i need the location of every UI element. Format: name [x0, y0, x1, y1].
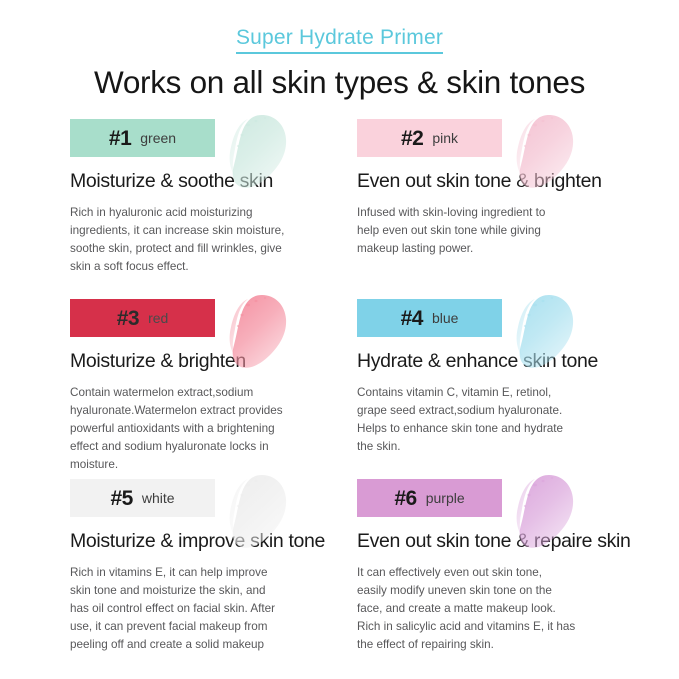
shade-description: Contains vitamin C, vitamin E, retinol,g… — [357, 384, 642, 455]
description-line: Rich in salicylic acid and vitamins E, i… — [357, 618, 642, 636]
shade-card-red: #3redMoisturize & brightenContain waterm… — [70, 299, 355, 479]
description-line: effect and sodium hyaluronate locks in — [70, 438, 355, 456]
shade-card-pink: #2pinkEven out skin tone & brightenInfus… — [357, 119, 642, 299]
description-line: use, it can prevent facial makeup from — [70, 618, 355, 636]
shade-color-name: blue — [432, 311, 458, 325]
shade-card-grid: #1greenMoisturize & soothe skinRich in h… — [0, 119, 679, 659]
description-line: Infused with skin-loving ingredient to — [357, 204, 642, 222]
description-line: the skin. — [357, 438, 642, 456]
description-line: Rich in hyaluronic acid moisturizing — [70, 204, 355, 222]
shade-band: #2pink — [357, 119, 502, 157]
shade-color-name: pink — [432, 131, 458, 145]
infographic-page: Super Hydrate Primer Works on all skin t… — [0, 0, 679, 679]
shade-description: Contain watermelon extract,sodiumhyaluro… — [70, 384, 355, 473]
shade-description: Infused with skin-loving ingredient tohe… — [357, 204, 642, 257]
description-line: skin a soft focus effect. — [70, 258, 355, 276]
shade-heading: Moisturize & improve skin tone — [70, 530, 355, 552]
shade-color-name: purple — [426, 491, 465, 505]
shade-description: Rich in hyaluronic acid moisturizingingr… — [70, 204, 355, 275]
description-line: Contains vitamin C, vitamin E, retinol, — [357, 384, 642, 402]
shade-card-green: #1greenMoisturize & soothe skinRich in h… — [70, 119, 355, 299]
shade-heading: Even out skin tone & repaire skin — [357, 530, 642, 552]
shade-color-name: green — [140, 131, 176, 145]
shade-heading: Even out skin tone & brighten — [357, 170, 642, 192]
description-line: Contain watermelon extract,sodium — [70, 384, 355, 402]
description-line: Helps to enhance skin tone and hydrate — [357, 420, 642, 438]
shade-band: #4blue — [357, 299, 502, 337]
shade-card-blue: #4blueHydrate & enhance skin toneContain… — [357, 299, 642, 479]
page-headline: Works on all skin types & skin tones — [0, 65, 679, 100]
description-line: help even out skin tone while giving — [357, 222, 642, 240]
shade-number: #4 — [401, 308, 423, 329]
product-title: Super Hydrate Primer — [236, 26, 443, 54]
description-line: peeling off and create a solid makeup — [70, 636, 355, 654]
shade-band: #6purple — [357, 479, 502, 517]
description-line: has oil control effect on facial skin. A… — [70, 600, 355, 618]
description-line: the effect of repairing skin. — [357, 636, 642, 654]
shade-card-white: #5whiteMoisturize & improve skin toneRic… — [70, 479, 355, 659]
description-line: soothe skin, protect and fill wrinkles, … — [70, 240, 355, 258]
description-line: makeup lasting power. — [357, 240, 642, 258]
description-line: Rich in vitamins E, it can help improve — [70, 564, 355, 582]
description-line: grape seed extract,sodium hyaluronate. — [357, 402, 642, 420]
description-line: skin tone and moisturize the skin, and — [70, 582, 355, 600]
shade-description: Rich in vitamins E, it can help improves… — [70, 564, 355, 653]
shade-color-name: red — [148, 311, 168, 325]
shade-number: #5 — [110, 488, 132, 509]
shade-heading: Hydrate & enhance skin tone — [357, 350, 642, 372]
shade-heading: Moisturize & soothe skin — [70, 170, 355, 192]
shade-number: #2 — [401, 128, 423, 149]
description-line: ingredients, it can increase skin moistu… — [70, 222, 355, 240]
shade-band: #3red — [70, 299, 215, 337]
shade-card-purple: #6purpleEven out skin tone & repaire ski… — [357, 479, 642, 659]
description-line: powerful antioxidants with a brightening — [70, 420, 355, 438]
shade-number: #6 — [394, 488, 416, 509]
description-line: It can effectively even out skin tone, — [357, 564, 642, 582]
shade-band: #5white — [70, 479, 215, 517]
shade-color-name: white — [142, 491, 175, 505]
shade-number: #1 — [109, 128, 131, 149]
description-line: hyaluronate.Watermelon extract provides — [70, 402, 355, 420]
shade-heading: Moisturize & brighten — [70, 350, 355, 372]
shade-number: #3 — [117, 308, 139, 329]
description-line: moisture. — [70, 456, 355, 474]
page-header: Super Hydrate Primer Works on all skin t… — [0, 0, 679, 100]
description-line: easily modify uneven skin tone on the — [357, 582, 642, 600]
shade-band: #1green — [70, 119, 215, 157]
shade-description: It can effectively even out skin tone,ea… — [357, 564, 642, 653]
description-line: face, and create a matte makeup look. — [357, 600, 642, 618]
